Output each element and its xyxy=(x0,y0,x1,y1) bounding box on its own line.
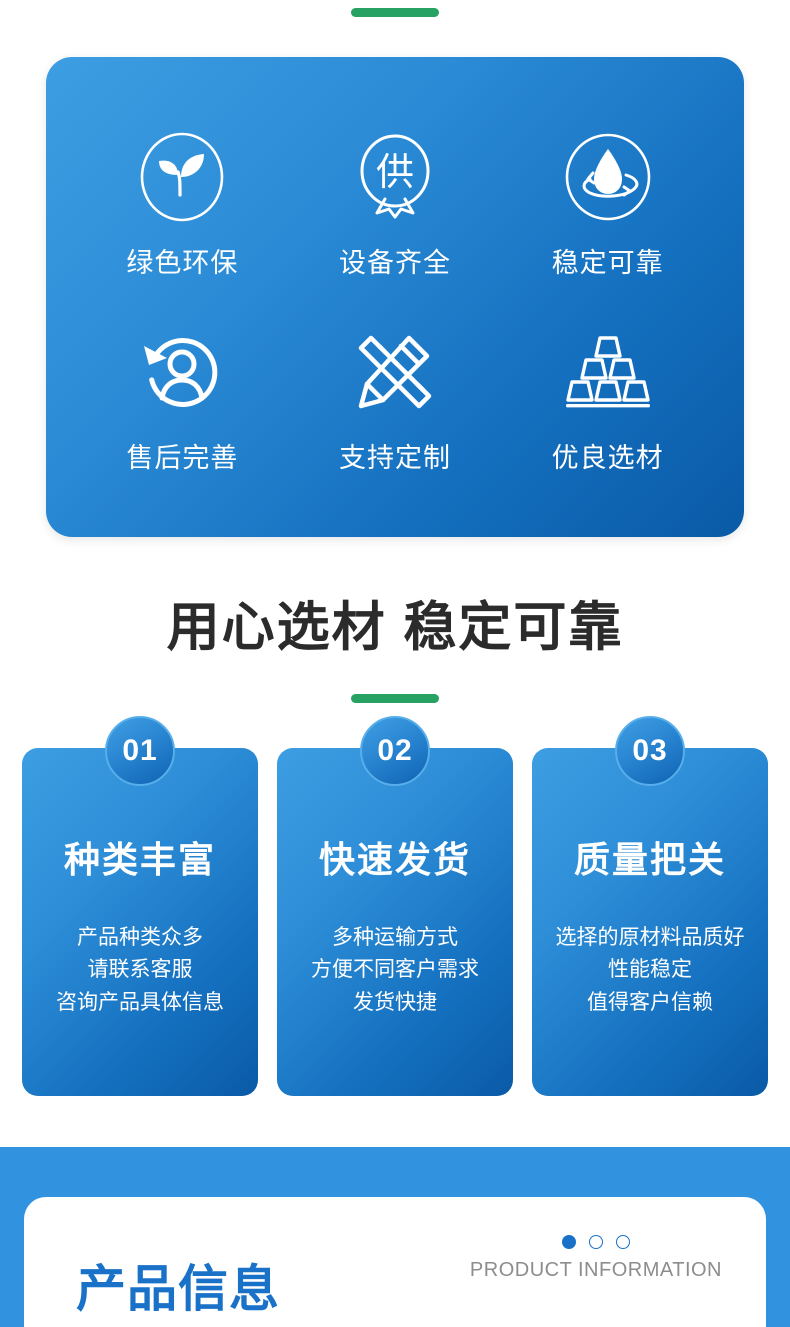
card-number-badge: 02 xyxy=(360,716,430,786)
feature-item-aftersales[interactable]: 售后完善 xyxy=(82,324,282,475)
feature-label: 设备齐全 xyxy=(339,241,451,280)
feature-label: 稳定可靠 xyxy=(552,241,664,280)
feature-item-materials[interactable]: 优良选材 xyxy=(508,324,708,475)
card-number-badge: 01 xyxy=(105,716,175,786)
feature-banner: 绿色环保 供 设备齐全 xyxy=(46,57,744,537)
card-body-line: 产品种类众多 xyxy=(28,922,252,955)
card-title: 种类丰富 xyxy=(22,840,258,880)
person-refresh-icon xyxy=(134,324,230,420)
advantage-card[interactable]: 01 种类丰富 产品种类众多 请联系客服 咨询产品具体信息 xyxy=(22,748,258,1096)
carousel-dots[interactable] xyxy=(562,1235,630,1249)
feature-item-custom[interactable]: 支持定制 xyxy=(295,324,495,475)
card-number-badge: 03 xyxy=(615,716,685,786)
medal-gong-icon: 供 xyxy=(347,129,443,225)
card-body-line: 方便不同客户需求 xyxy=(283,954,507,987)
advantage-cards: 01 种类丰富 产品种类众多 请联系客服 咨询产品具体信息 02 快速发货 多种… xyxy=(22,748,768,1096)
card-title: 快速发货 xyxy=(277,840,513,880)
card-body: 产品种类众多 请联系客服 咨询产品具体信息 xyxy=(22,922,258,1020)
pencil-ruler-icon xyxy=(347,324,443,420)
carousel-dot-2[interactable] xyxy=(589,1235,603,1249)
feature-label: 售后完善 xyxy=(126,436,238,475)
card-wrap-01: 01 种类丰富 产品种类众多 请联系客服 咨询产品具体信息 xyxy=(22,748,258,1096)
product-info-title: 产品信息 xyxy=(76,1249,280,1321)
card-body-line: 选择的原材料品质好 xyxy=(538,922,762,955)
sprout-icon xyxy=(134,129,230,225)
feature-label: 支持定制 xyxy=(339,436,451,475)
product-info-subtitle: PRODUCT INFORMATION xyxy=(470,1259,722,1282)
feature-label: 绿色环保 xyxy=(126,241,238,280)
card-body: 多种运输方式 方便不同客户需求 发货快捷 xyxy=(277,922,513,1020)
card-body: 选择的原材料品质好 性能稳定 值得客户信赖 xyxy=(532,922,768,1020)
card-body-line: 咨询产品具体信息 xyxy=(28,987,252,1020)
product-detail-page: 绿色环保 供 设备齐全 xyxy=(0,0,790,1327)
top-green-divider xyxy=(351,8,439,17)
advantage-card[interactable]: 03 质量把关 选择的原材料品质好 性能稳定 值得客户信赖 xyxy=(532,748,768,1096)
advantage-card[interactable]: 02 快速发货 多种运输方式 方便不同客户需求 发货快捷 xyxy=(277,748,513,1096)
card-title: 质量把关 xyxy=(532,840,768,880)
card-body-line: 发货快捷 xyxy=(283,987,507,1020)
product-info-meta: PRODUCT INFORMATION xyxy=(470,1235,722,1282)
feature-item-stable[interactable]: 稳定可靠 xyxy=(508,129,708,280)
feature-row-bottom: 售后完善 xyxy=(76,324,714,475)
heading-green-divider xyxy=(351,694,439,703)
card-body-line: 多种运输方式 xyxy=(283,922,507,955)
section-heading: 用心选材 稳定可靠 xyxy=(0,585,790,661)
gold-bars-icon xyxy=(560,324,656,420)
feature-label: 优良选材 xyxy=(552,436,664,475)
carousel-dot-1[interactable] xyxy=(562,1235,576,1249)
carousel-dot-3[interactable] xyxy=(616,1235,630,1249)
product-information-panel: 产品信息 PRODUCT INFORMATION xyxy=(24,1197,766,1327)
card-body-line: 性能稳定 xyxy=(538,954,762,987)
card-wrap-03: 03 质量把关 选择的原材料品质好 性能稳定 值得客户信赖 xyxy=(532,748,768,1096)
card-body-line: 请联系客服 xyxy=(28,954,252,987)
feature-item-green[interactable]: 绿色环保 xyxy=(82,129,282,280)
card-wrap-02: 02 快速发货 多种运输方式 方便不同客户需求 发货快捷 xyxy=(277,748,513,1096)
card-body-line: 值得客户信赖 xyxy=(538,987,762,1020)
feature-row-top: 绿色环保 供 设备齐全 xyxy=(76,129,714,280)
feature-item-equipment[interactable]: 供 设备齐全 xyxy=(295,129,495,280)
water-drop-rotate-icon xyxy=(560,129,656,225)
svg-text:供: 供 xyxy=(376,152,414,194)
